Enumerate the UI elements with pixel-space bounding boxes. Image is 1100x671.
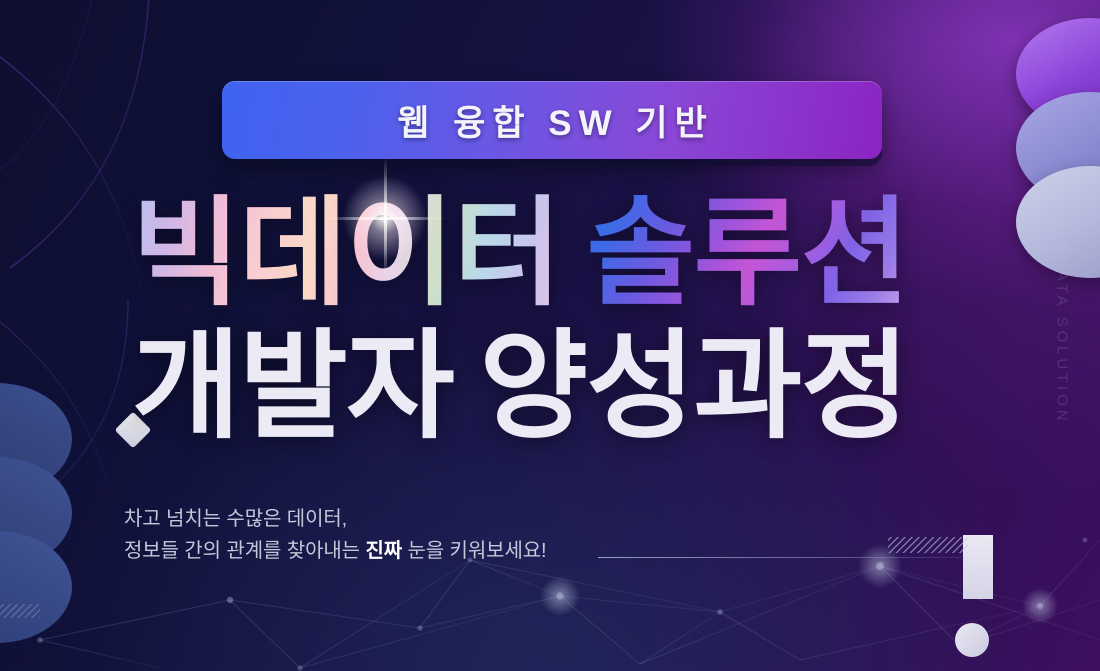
side-vertical-label: BIGDATA SOLUTION <box>1054 219 1071 459</box>
subtitle-line-2-before: 정보들 간의 관계를 찾아내는 <box>124 540 365 562</box>
headline-line-1: 빅데이터솔루션 <box>132 188 1012 321</box>
headline-bigdata: 빅데이터 <box>132 188 561 320</box>
category-badge-label: 웹 융합 SW 기반 <box>390 95 714 146</box>
promo-banner: 웹 융합 SW 기반 빅데이터솔루션 개발자양성과정 차고 넘치는 수많은 데이… <box>0 0 1100 671</box>
headline-developer: 개발자 <box>132 321 453 453</box>
headline-line-2: 개발자양성과정 <box>132 321 1012 454</box>
hatch-block <box>888 537 968 553</box>
circle-chip-shape <box>955 623 989 657</box>
subtitle-emphasis: 진짜 <box>365 540 402 562</box>
hatch-block-secondary <box>0 604 40 618</box>
subtitle-line-2: 정보들 간의 관계를 찾아내는 진짜 눈을 키워보세요! <box>124 535 547 567</box>
subtitle-line-1: 차고 넘치는 수많은 데이터, <box>124 503 547 535</box>
subtitle-divider-rule <box>598 557 972 558</box>
headline-block: 빅데이터솔루션 개발자양성과정 <box>132 188 1012 455</box>
category-badge: 웹 융합 SW 기반 <box>222 81 882 159</box>
headline-solution: 솔루션 <box>587 188 908 320</box>
subtitle-line-2-after: 눈을 키워보세요! <box>402 540 546 562</box>
headline-training-course: 양성과정 <box>479 321 908 453</box>
subtitle-block: 차고 넘치는 수많은 데이터, 정보들 간의 관계를 찾아내는 진짜 눈을 키워… <box>124 503 547 568</box>
